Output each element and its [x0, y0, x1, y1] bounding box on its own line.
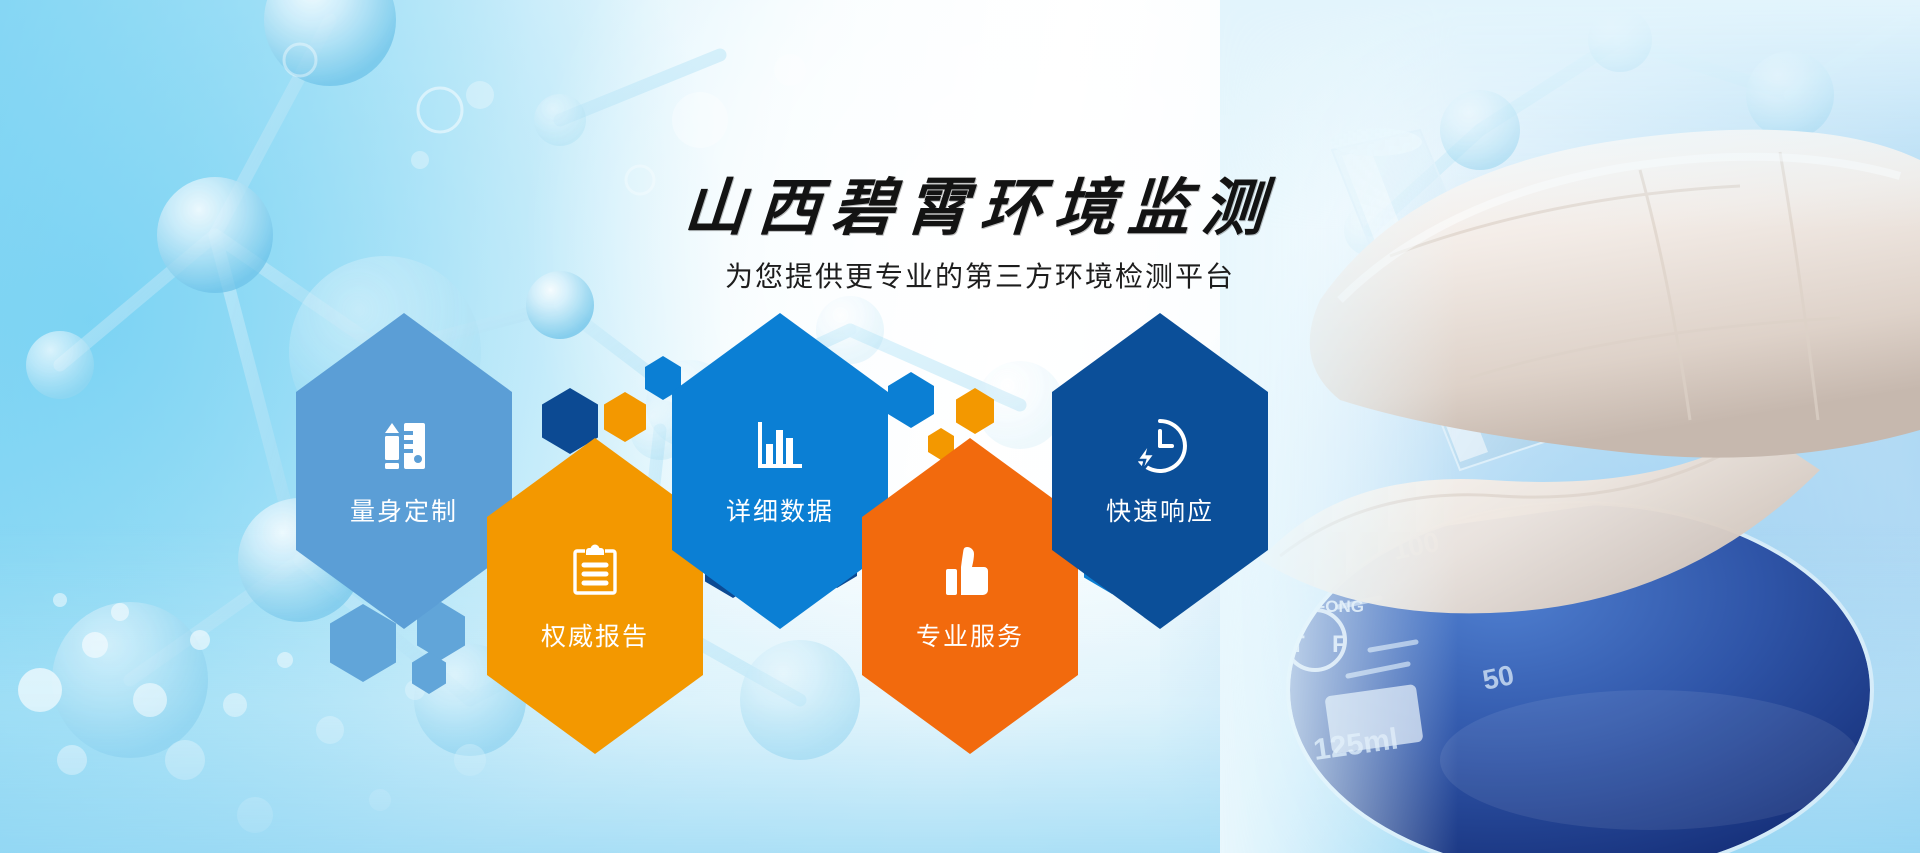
page-title: 山西碧霄环境监测: [638, 178, 1322, 241]
page-subtitle: 为您提供更专业的第三方环境检测平台: [640, 255, 1320, 295]
pencil-ruler-icon: [372, 414, 436, 478]
feature-label: 快速响应: [1106, 492, 1214, 528]
clipboard-icon: [563, 539, 627, 603]
bar-chart-icon: [748, 414, 812, 478]
thumbs-up-icon: [938, 539, 1002, 603]
gloved-hand-holding-flask-photo: 100 50 125ml TAI FONG T F: [1220, 0, 1920, 853]
hero-banner: 100 50 125ml TAI FONG T F: [0, 0, 1920, 853]
headline-block: 山西碧霄环境监测 为您提供更专业的第三方环境检测平台: [640, 178, 1320, 295]
feature-label: 专业服务: [916, 617, 1024, 653]
feature-label: 权威报告: [541, 617, 649, 653]
feature-label: 量身定制: [350, 492, 458, 528]
feature-label: 详细数据: [726, 492, 834, 528]
photo-top-fade: [1220, 0, 1920, 230]
clock-bolt-icon: [1128, 414, 1192, 478]
